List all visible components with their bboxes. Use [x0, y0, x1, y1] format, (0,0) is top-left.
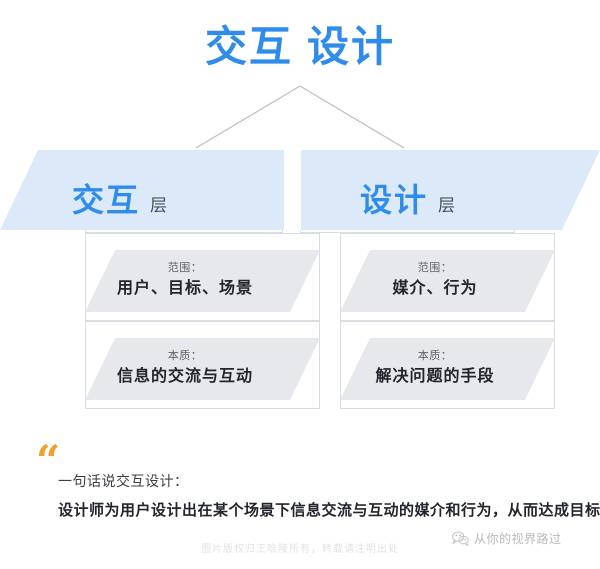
right-range-key: 范围： — [340, 260, 530, 276]
quote-lead: 一句话说交互设计： — [58, 471, 189, 493]
left-essence-value: 信息的交流与互动 — [85, 364, 285, 388]
right-column-header-main: 设计 — [360, 181, 428, 219]
right-column-header: 设计层 — [360, 175, 455, 221]
brand-name: 从你的视界路过 — [474, 530, 562, 547]
left-range-value: 用户、目标、场景 — [85, 276, 285, 300]
infographic-canvas: 交互设计 交互层 设计层 范围 — [0, 0, 600, 569]
left-column-header: 交互层 — [72, 175, 167, 221]
right-range-value: 媒介、行为 — [340, 276, 530, 300]
right-essence-value: 解决问题的手段 — [340, 364, 530, 388]
right-essence-key: 本质： — [340, 348, 530, 364]
left-column-header-main: 交互 — [72, 181, 140, 219]
right-essence-cell: 本质： 解决问题的手段 — [340, 348, 530, 388]
two-layer-diagram: 交互层 设计层 范围： 用户、目标、场景 本质： 信息的交流与互动 范围： 媒介… — [0, 150, 600, 416]
left-range-cell: 范围： 用户、目标、场景 — [85, 260, 285, 300]
connector-chevron — [180, 84, 420, 152]
page-title-part1: 交互 — [205, 22, 293, 71]
brand-credit: 从你的视界路过 — [452, 530, 562, 547]
quote-body: 设计师为用户设计出在某个场景下信息交流与互动的媒介和行为，从而达成目标。 — [58, 498, 600, 522]
right-column-header-sub: 层 — [438, 196, 455, 216]
left-column-header-sub: 层 — [150, 196, 167, 216]
page-title: 交互设计 — [0, 22, 600, 72]
left-range-key: 范围： — [85, 260, 285, 276]
right-range-cell: 范围： 媒介、行为 — [340, 260, 530, 300]
wechat-icon — [452, 531, 469, 546]
chevron-icon — [180, 84, 420, 152]
left-essence-cell: 本质： 信息的交流与互动 — [85, 348, 285, 388]
page-title-part2: 设计 — [307, 22, 395, 71]
left-essence-key: 本质： — [85, 348, 285, 364]
header-band-divider — [284, 150, 301, 230]
quote-mark-icon: “ — [36, 446, 60, 476]
